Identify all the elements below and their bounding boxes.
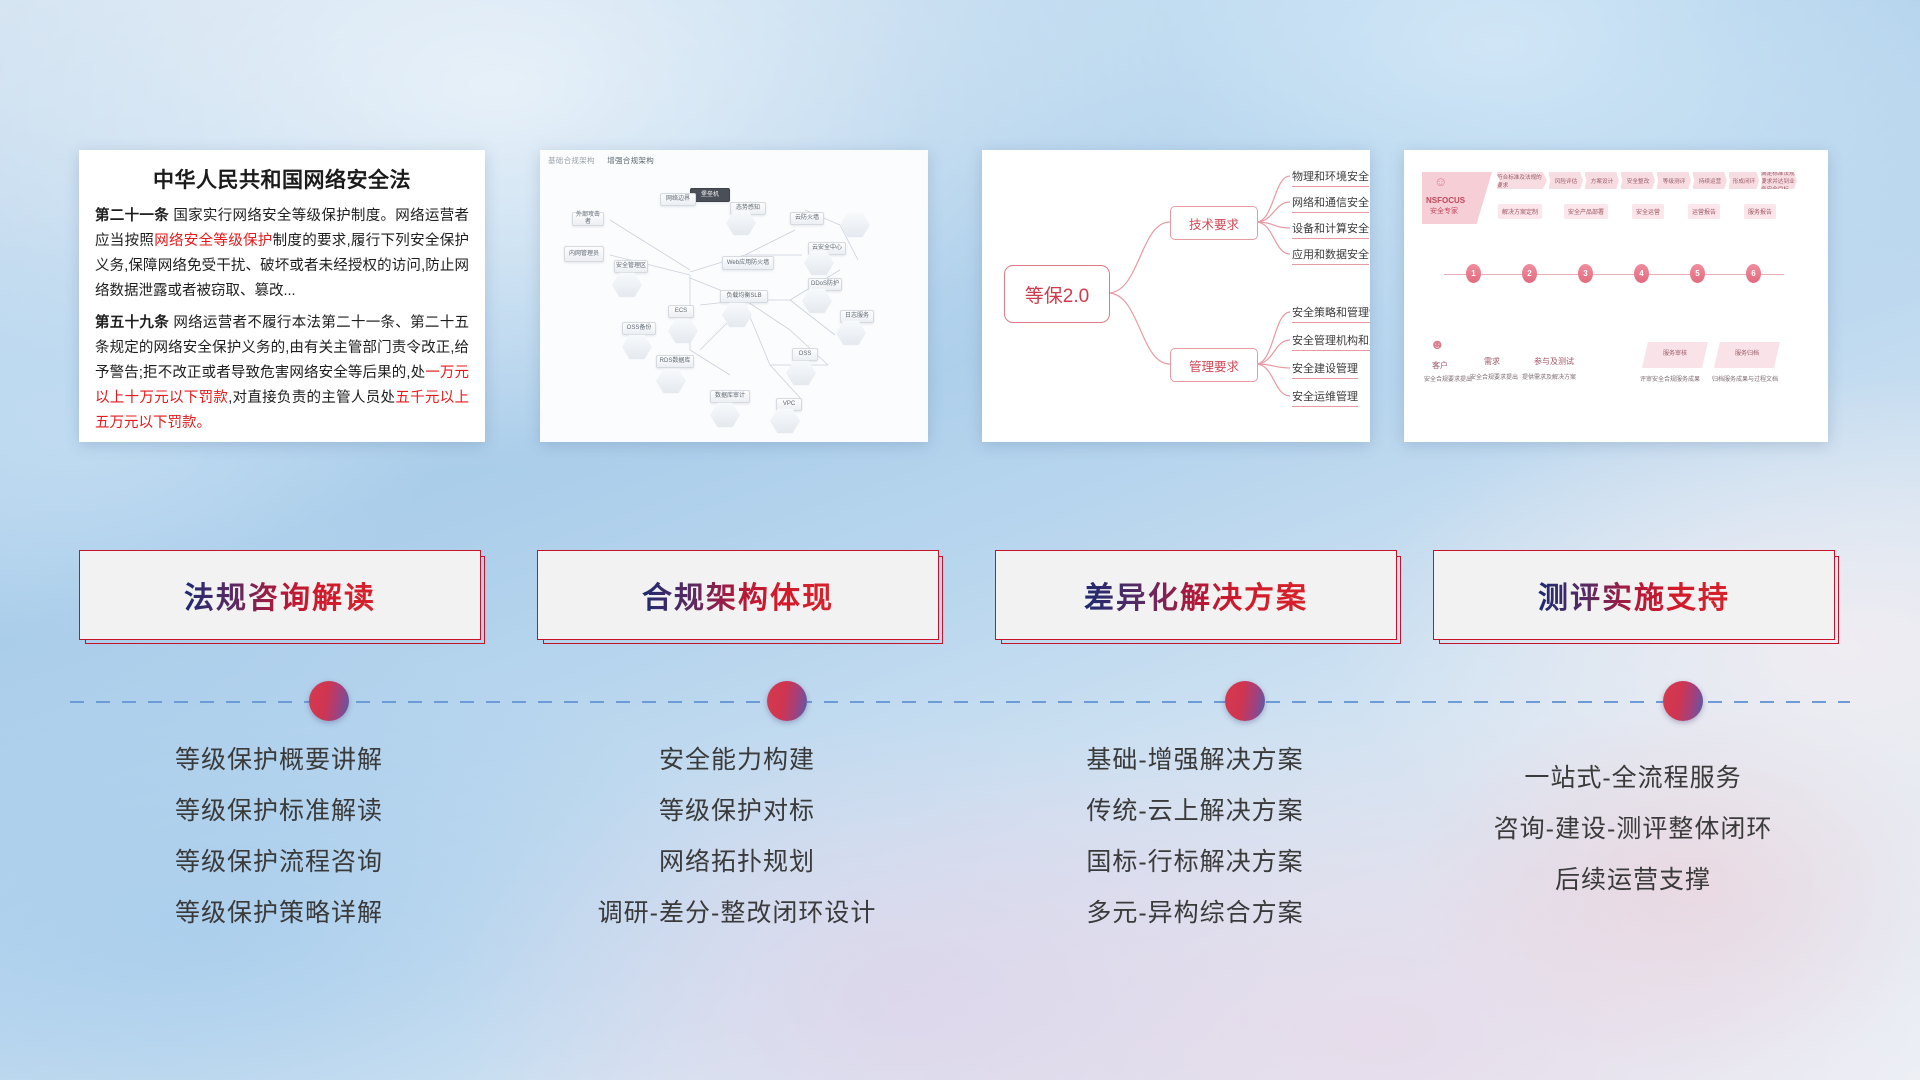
roadmap-phase-3: 安全运营 <box>1632 204 1664 219</box>
law-article-label-1: 第二十一条 <box>95 208 169 224</box>
list-item: 等级保护标准解读 <box>79 786 479 837</box>
title-box-assessment-support[interactable]: 测评实施支持 <box>1433 550 1835 640</box>
mindmap-leaf-device: 设备和计算安全 <box>1292 220 1369 239</box>
title-text-4: 测评实施支持 <box>1538 573 1730 617</box>
title-box-compliance-architecture[interactable]: 合规架构体现 <box>537 550 939 640</box>
roadmap-top-step-3: 方案设计 <box>1584 172 1619 189</box>
arch-node-db-audit: 数据库审计 <box>710 390 750 403</box>
arch-node-slb: 负载均衡SLB <box>720 290 768 303</box>
roadmap-step-badge-5: 5 <box>1690 264 1705 283</box>
law-paragraph-2: 第五十九条 网络运营者不履行本法第二十一条、第二十五条规定的网络安全保护义务的,… <box>95 311 469 436</box>
bottom-list-row: 等级保护概要讲解 等级保护标准解读 等级保护流程咨询 等级保护策略详解 安全能力… <box>0 735 1920 965</box>
roadmap-bottom-caption-4: 归档服务成果与过程文档 <box>1712 374 1778 383</box>
timeline-dot-3[interactable] <box>1225 681 1265 721</box>
arch-node-waf: Web应用防火墙 <box>722 256 774 270</box>
title-text-2: 合规架构体现 <box>642 573 834 617</box>
list-item: 基础-增强解决方案 <box>995 735 1395 786</box>
list-item: 传统-云上解决方案 <box>995 786 1395 837</box>
roadmap-step-badge-2: 2 <box>1522 264 1537 283</box>
law-text-card: 中华人民共和国网络安全法 第二十一条 国家实行网络安全等级保护制度。网络运营者应… <box>79 150 485 442</box>
roadmap-brand-name: NSFOCUS <box>1426 196 1465 205</box>
arch-node-ecs: ECS <box>668 305 694 318</box>
list-item: 等级保护策略详解 <box>79 888 479 939</box>
roadmap-top-step-7: 形成闭环 <box>1728 172 1759 189</box>
list-item: 一站式-全流程服务 <box>1433 753 1833 804</box>
arch-node-security-mgmt: 网络边界 <box>660 193 696 206</box>
list-item: 后续运营支撑 <box>1433 855 1833 906</box>
list-item: 网络拓扑规划 <box>537 837 937 888</box>
list-column-3: 基础-增强解决方案 传统-云上解决方案 国标-行标解决方案 多元-异构综合方案 <box>995 735 1395 939</box>
list-column-1: 等级保护概要讲解 等级保护标准解读 等级保护流程咨询 等级保护策略详解 <box>79 735 479 939</box>
list-item: 安全能力构建 <box>537 735 937 786</box>
roadmap-top-step-8: 满足标准法规要求并达到业务安全目标 <box>1760 172 1797 189</box>
list-item: 国标-行标解决方案 <box>995 837 1395 888</box>
customer-icon: ☻ <box>1430 336 1445 352</box>
mindmap-leaf-operations: 安全运维管理 <box>1292 388 1358 407</box>
arch-node-admin: 内网管理员 <box>564 246 604 262</box>
list-item: 等级保护概要讲解 <box>79 735 479 786</box>
roadmap-phase-4: 运营报告 <box>1688 204 1720 219</box>
roadmap-timeline-line <box>1444 274 1784 275</box>
list-item: 等级保护流程咨询 <box>79 837 479 888</box>
timeline-dot-1[interactable] <box>309 681 349 721</box>
arch-node-security-zone: 安全管理区 <box>614 260 648 273</box>
roadmap-bottom-item-2: 参与及测试 <box>1534 356 1574 367</box>
image-card-row: 中华人民共和国网络安全法 第二十一条 国家实行网络安全等级保护制度。网络运营者应… <box>0 150 1920 450</box>
mindmap-leaf-network: 网络和通信安全 <box>1292 194 1369 213</box>
roadmap-top-step-2: 风险评估 <box>1548 172 1583 189</box>
timeline <box>70 700 1850 704</box>
roadmap-customer-role: 客户 <box>1432 360 1448 371</box>
roadmap-step-badge-3: 3 <box>1578 264 1593 283</box>
mindmap-branch-management: 管理要求 <box>1170 348 1258 382</box>
title-text-3: 差异化解决方案 <box>1084 573 1308 617</box>
timeline-dot-2[interactable] <box>767 681 807 721</box>
mindmap-leaf-org: 安全管理机构和人员 <box>1292 332 1370 351</box>
arch-node-internet: 堡垒机 <box>690 188 730 202</box>
law-paragraph-1: 第二十一条 国家实行网络安全等级保护制度。网络运营者应当按照网络安全等级保护制度… <box>95 204 469 304</box>
mindmap-leaf-physical: 物理和环境安全 <box>1292 168 1369 187</box>
arch-node-attacker: 外部攻击者 <box>572 212 604 226</box>
list-item: 等级保护对标 <box>537 786 937 837</box>
title-box-row: 法规咨询解读 合规架构体现 差异化解决方案 测评实施支持 <box>0 550 1920 642</box>
roadmap-top-step-5: 等级测评 <box>1656 172 1691 189</box>
mindmap-root-node: 等保2.0 <box>1004 265 1110 323</box>
roadmap-bottom-item-4: 服务归档 <box>1714 342 1780 368</box>
list-column-2: 安全能力构建 等级保护对标 网络拓扑规划 调研-差分-整改闭环设计 <box>537 735 937 939</box>
title-box-regulation-consulting[interactable]: 法规咨询解读 <box>79 550 481 640</box>
timeline-dot-4[interactable] <box>1663 681 1703 721</box>
arch-node-oss: OSS <box>792 348 818 361</box>
law-card-title: 中华人民共和国网络安全法 <box>95 164 469 194</box>
mindmap-leaf-construction: 安全建设管理 <box>1292 360 1358 379</box>
roadmap-top-step-4: 安全整改 <box>1620 172 1655 189</box>
title-text-1: 法规咨询解读 <box>184 573 376 617</box>
roadmap-step-badge-1: 1 <box>1466 264 1481 283</box>
slide-stage: 中华人民共和国网络安全法 第二十一条 国家实行网络安全等级保护制度。网络运营者应… <box>0 0 1920 1080</box>
mindmap-leaf-policy: 安全策略和管理制度 <box>1292 304 1370 323</box>
roadmap-bottom-caption-3: 评审安全合规服务成果 <box>1640 374 1700 383</box>
list-item: 咨询-建设-测评整体闭环 <box>1433 804 1833 855</box>
roadmap-phase-5: 服务报告 <box>1744 204 1776 219</box>
title-box-differentiated-solution[interactable]: 差异化解决方案 <box>995 550 1397 640</box>
mindmap-card: 等保2.0 技术要求 管理要求 物理和环境安全 网络和通信安全 设备和计算安全 … <box>982 150 1370 442</box>
mindmap-branch-technical: 技术要求 <box>1170 206 1258 240</box>
mindmap-leaf-application: 应用和数据安全 <box>1292 246 1369 265</box>
arch-node-rds: RDS数据库 <box>656 355 694 368</box>
roadmap-card: ☺ NSFOCUS 安全专家 符合标准及法规的要求 风险评估 方案设计 安全整改… <box>1404 150 1828 442</box>
roadmap-step-badge-6: 6 <box>1746 264 1761 283</box>
roadmap-bottom-caption-2: 提供需求及解决方案 <box>1522 372 1576 381</box>
roadmap-brand-sub: 安全专家 <box>1430 206 1458 216</box>
roadmap-phase-2: 安全产品部署 <box>1564 204 1608 219</box>
roadmap-bottom-caption-1: 安全合规要求提出 <box>1470 372 1518 381</box>
list-item: 调研-差分-整改闭环设计 <box>537 888 937 939</box>
law-text-2c: ,对直接负责的主管人员处 <box>228 390 395 406</box>
roadmap-top-step-1: 符合标准及法规的要求 <box>1496 172 1547 189</box>
person-icon: ☺ <box>1434 174 1447 189</box>
roadmap-customer-caption: 安全合规要求提出 <box>1424 374 1472 383</box>
architecture-diagram-card: 基础合规架构 增强合规架构 <box>540 150 928 442</box>
roadmap-phase-1: 解决方案定制 <box>1498 204 1542 219</box>
law-article-label-2: 第五十九条 <box>95 315 169 331</box>
roadmap-bottom-item-1: 需求 <box>1484 356 1500 367</box>
arch-node-cloud-firewall: 云防火墙 <box>790 212 824 225</box>
list-item: 多元-异构综合方案 <box>995 888 1395 939</box>
list-column-4: 一站式-全流程服务 咨询-建设-测评整体闭环 后续运营支撑 <box>1433 753 1833 906</box>
roadmap-bottom-item-3: 服务审核 <box>1642 342 1708 368</box>
roadmap-step-badge-4: 4 <box>1634 264 1649 283</box>
law-text-1b-highlight: 网络安全等级保护 <box>154 233 272 249</box>
roadmap-top-step-6: 持续运营 <box>1692 172 1727 189</box>
arch-node-oss-backup: OSS备份 <box>622 322 656 335</box>
